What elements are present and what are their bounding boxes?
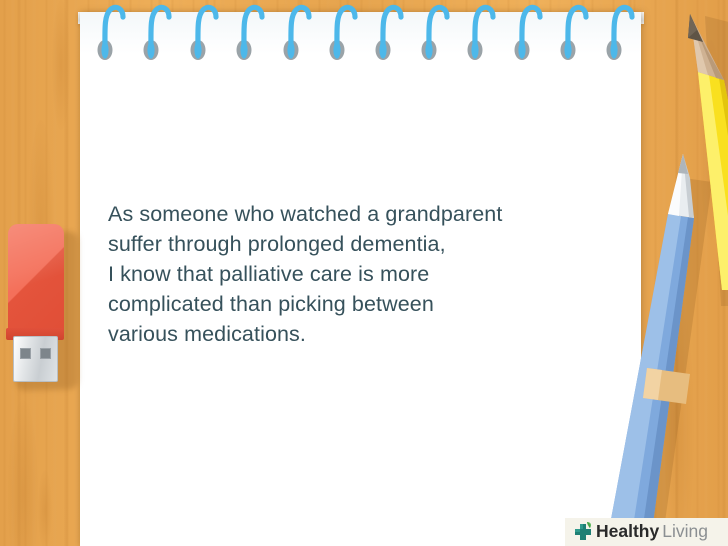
logo-healthy-text: Healthy [596, 521, 659, 541]
usb-body-highlight [8, 224, 64, 338]
logo-living-text: Living [662, 521, 708, 541]
wood-grain-knot [52, 0, 70, 130]
logo-wordmark: HealthyLiving [596, 523, 708, 541]
screenshot-scene: As someone who watched a grandparent suf… [0, 0, 728, 546]
usb-connector-slot [20, 348, 31, 359]
wood-grain-knot [8, 400, 38, 546]
wood-grain-knot [38, 470, 52, 546]
usb-connector [13, 336, 58, 382]
wood-grain-knot [700, 40, 722, 240]
usb-connector-slot [40, 348, 51, 359]
wood-grain-knot [664, 300, 694, 546]
quote-text: As someone who watched a grandparent suf… [108, 199, 628, 349]
plus-leaf-icon [571, 520, 595, 544]
healthy-living-logo: HealthyLiving [565, 518, 728, 546]
usb-flash-drive-icon [2, 222, 78, 402]
page-top-shading [80, 12, 641, 54]
